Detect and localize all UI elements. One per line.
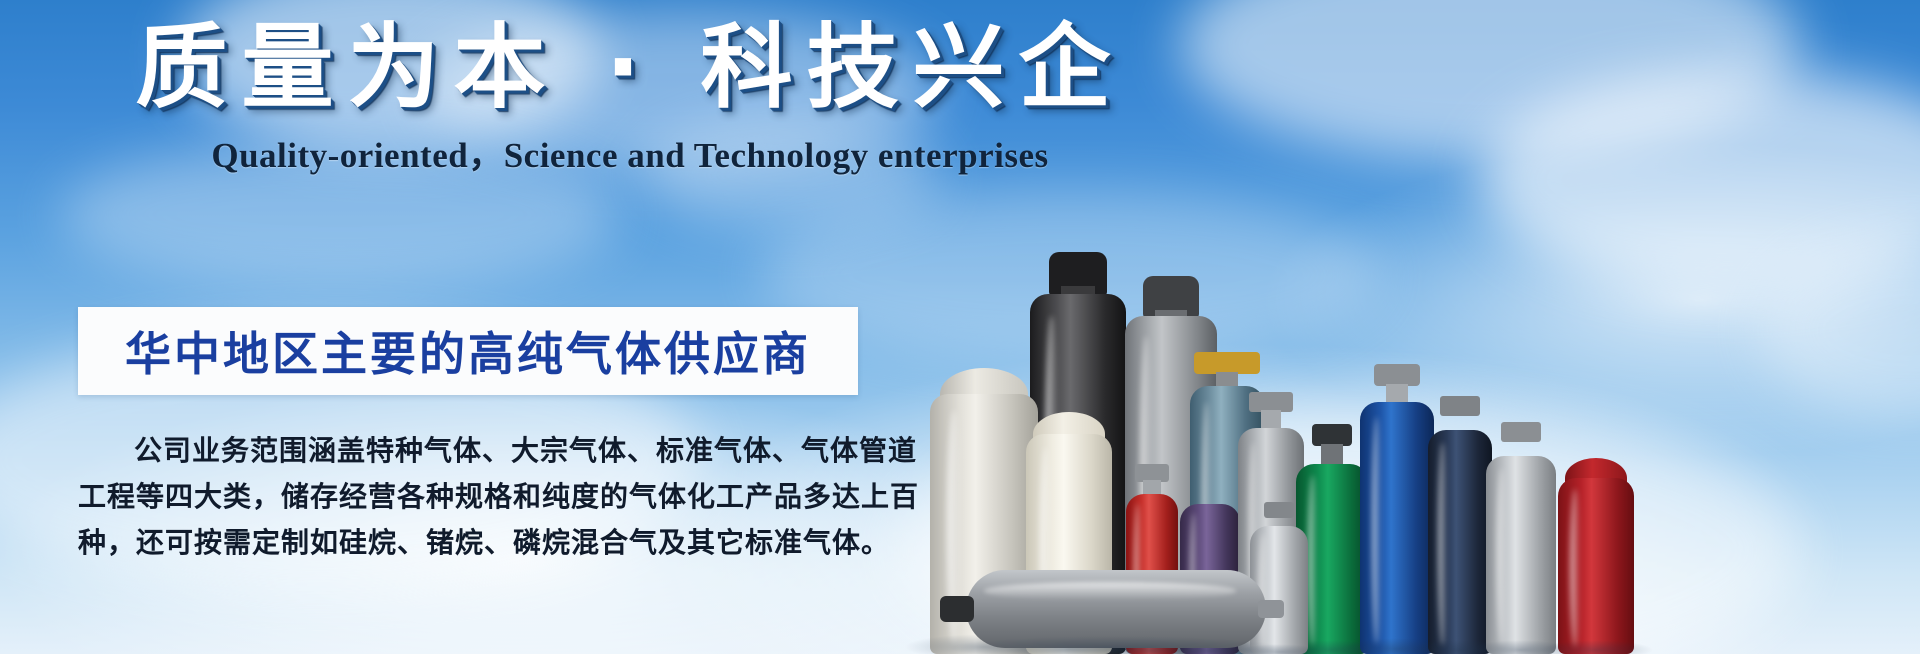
crimson-cylinder xyxy=(1558,478,1634,654)
body-line: 工程等四大类，储存经营各种规格和纯度的气体化工产品多达上百 xyxy=(78,474,868,520)
gas-cylinder-product-group xyxy=(930,150,1920,654)
tank-valve-knob xyxy=(940,596,974,622)
body-line: 种，还可按需定制如硅烷、锗烷、磷烷混合气及其它标准气体。 xyxy=(78,520,868,566)
body-paragraph: 公司业务范围涵盖特种气体、大宗气体、标准气体、气体管道 工程等四大类，储存经营各… xyxy=(78,428,868,566)
aluminium-cylinder xyxy=(1486,456,1556,654)
highlight-box: 华中地区主要的高纯气体供应商 xyxy=(78,307,858,395)
headline-chinese: 质量为本 · 科技兴企 xyxy=(0,14,1260,123)
tank-highlight xyxy=(984,582,1236,599)
hero-banner: 质量为本 · 科技兴企 Quality-oriented，Science and… xyxy=(0,0,1920,654)
cloud-shape xyxy=(1180,0,1800,160)
dark-navy-cylinder xyxy=(1428,430,1492,654)
blue-cylinder xyxy=(1360,402,1434,654)
tank-neck xyxy=(1258,600,1284,618)
highlight-box-text: 华中地区主要的高纯气体供应商 xyxy=(125,318,811,384)
body-line: 公司业务范围涵盖特种气体、大宗气体、标准气体、气体管道 xyxy=(78,428,868,474)
grey-horizontal-tank xyxy=(966,570,1266,648)
